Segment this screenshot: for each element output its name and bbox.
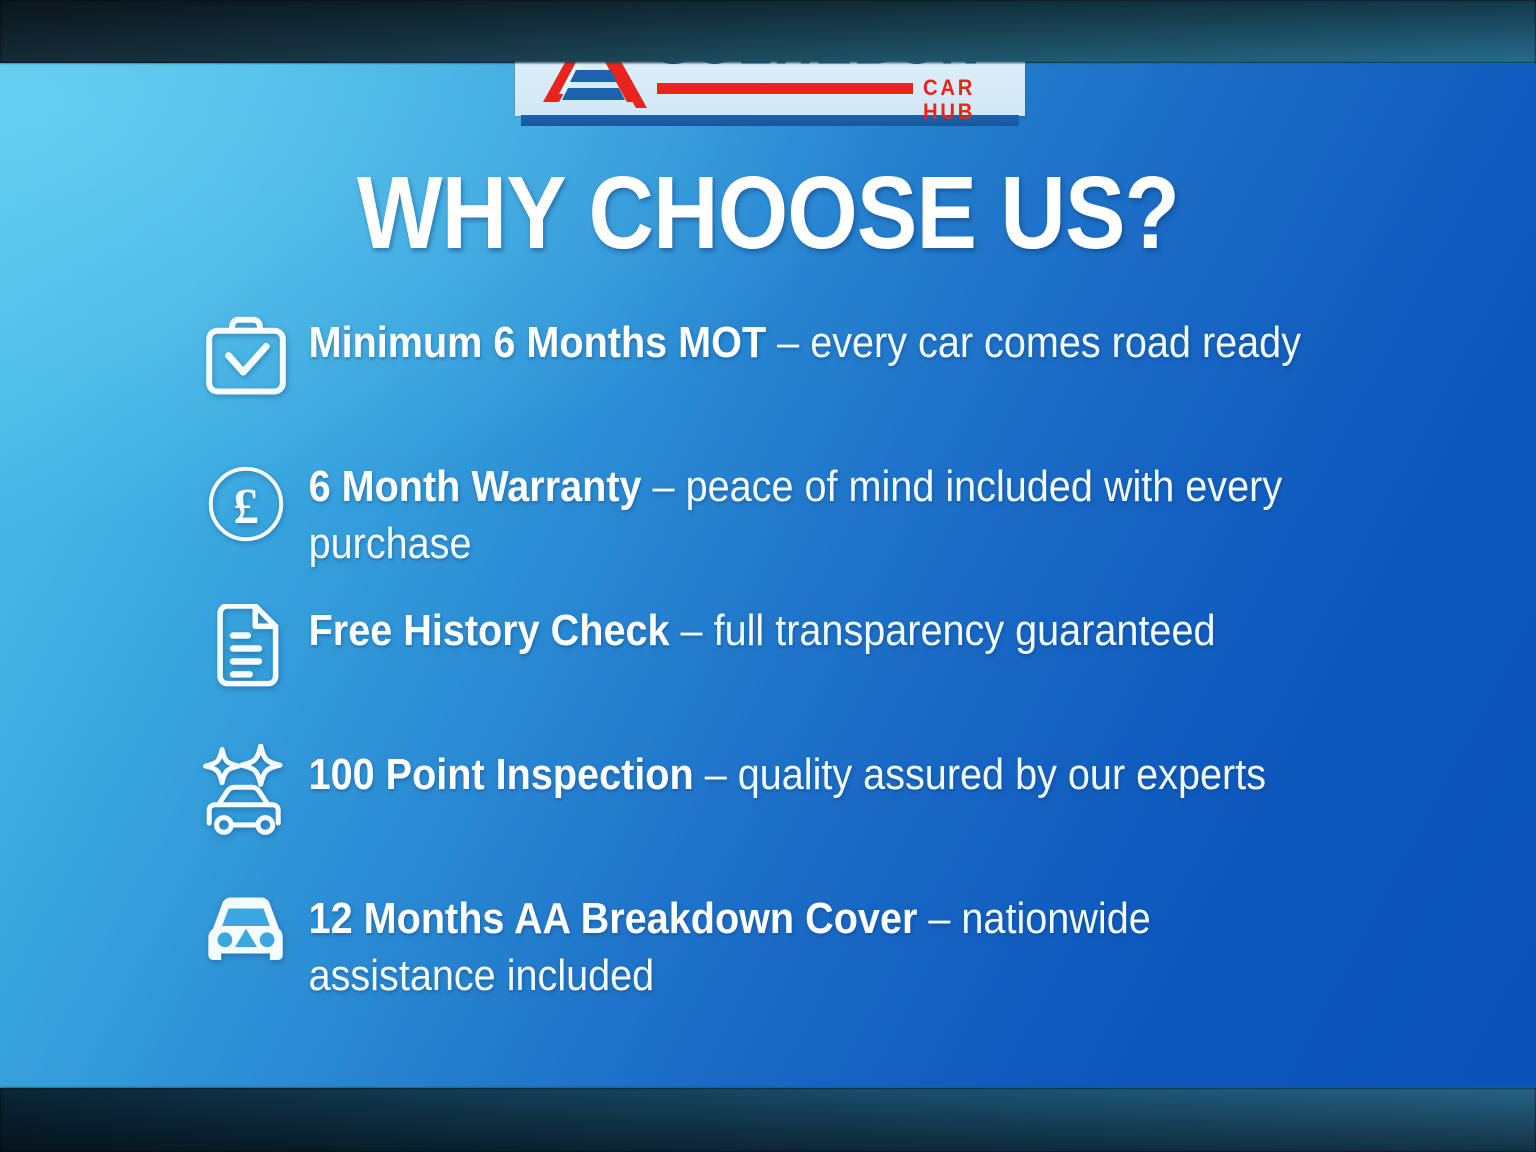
feature-title: Minimum 6 Months MOT	[309, 318, 767, 367]
letterbox-bottom	[0, 1088, 1536, 1152]
feature-text: 100 Point Inspection – quality assured b…	[296, 744, 1266, 803]
poster-root: SOLHEBON CAR HUB WHY CHOOSE US? Minimum …	[0, 0, 1536, 1152]
feature-desc: – every car comes road ready	[766, 318, 1301, 367]
feature-text: 12 Months AA Breakdown Cover – nationwid…	[296, 888, 1331, 1004]
logo-word: SOLHEBON	[655, 16, 982, 76]
briefcase-check-icon	[196, 312, 296, 412]
brand-logo: SOLHEBON CAR HUB	[515, 2, 1025, 128]
feature-item-history: Free History Check – full transparency g…	[0, 600, 1536, 744]
feature-text: Free History Check – full transparency g…	[296, 600, 1216, 659]
page-title: WHY CHOOSE US?	[0, 158, 1536, 268]
logo-subtitle: CAR HUB	[923, 76, 1008, 124]
pound-circle-icon: £	[196, 456, 296, 556]
feature-desc: – full transparency guaranteed	[670, 606, 1216, 655]
feature-title: 100 Point Inspection	[309, 750, 694, 799]
feature-desc: – quality assured by our experts	[694, 750, 1266, 799]
feature-text: 6 Month Warranty – peace of mind include…	[296, 456, 1331, 572]
feature-title: Free History Check	[309, 606, 670, 655]
logo-wordmark: SOLHEBON CAR HUB	[655, 10, 1015, 110]
feature-item-warranty: £ 6 Month Warranty – peace of mind inclu…	[0, 456, 1536, 600]
logo-triangle-mark	[535, 8, 650, 108]
feature-title: 12 Months AA Breakdown Cover	[309, 894, 918, 943]
feature-title: 6 Month Warranty	[309, 462, 642, 511]
page-title-text: WHY CHOOSE US?	[357, 158, 1179, 268]
feature-item-mot: Minimum 6 Months MOT – every car comes r…	[0, 312, 1536, 456]
feature-text: Minimum 6 Months MOT – every car comes r…	[296, 312, 1301, 371]
sparkle-car-icon	[196, 744, 296, 844]
logo-red-bar	[657, 83, 913, 94]
feature-item-breakdown: 12 Months AA Breakdown Cover – nationwid…	[0, 888, 1536, 1032]
svg-text:£: £	[233, 479, 259, 535]
car-front-icon	[196, 888, 296, 988]
feature-item-inspection: 100 Point Inspection – quality assured b…	[0, 744, 1536, 888]
feature-list: Minimum 6 Months MOT – every car comes r…	[0, 312, 1536, 1032]
document-lines-icon	[196, 600, 296, 700]
